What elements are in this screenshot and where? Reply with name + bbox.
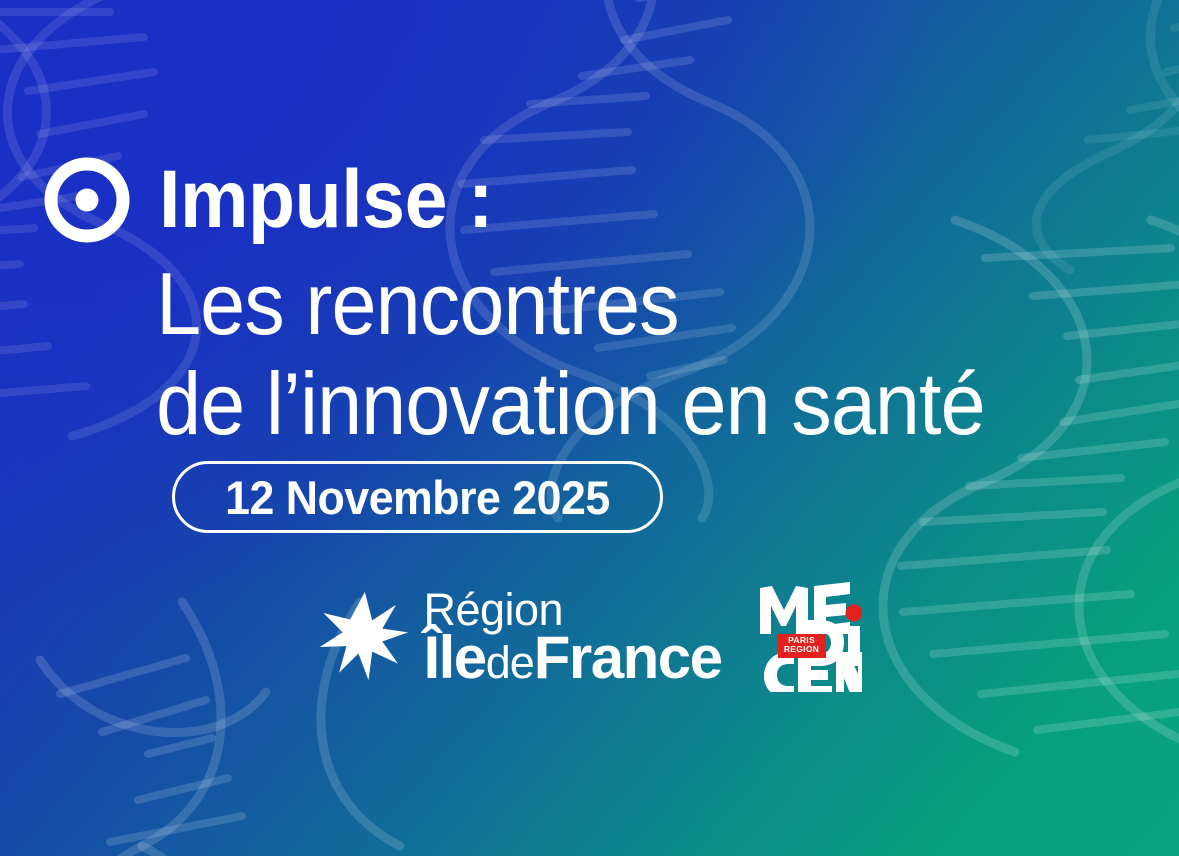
medicen-badge-text: PARIS REGION xyxy=(780,636,824,653)
event-poster: Impulse : Les rencontres de l’innovation… xyxy=(0,0,1179,856)
date-badge-label: 12 Novembre 2025 xyxy=(225,474,610,521)
target-dot-icon xyxy=(42,155,132,245)
logo-region-ile-de-france: Région Île de France xyxy=(317,586,721,686)
partner-logos: Région Île de France xyxy=(0,580,1179,692)
headline-third-line: de l’innovation en santé xyxy=(42,360,1054,448)
medicen-badge-line2: REGION xyxy=(780,645,824,654)
headline-first-line: Impulse : xyxy=(42,152,1142,248)
headline-block: Impulse : Les rencontres de l’innovation… xyxy=(42,152,1142,448)
logo-word-ile: Île xyxy=(423,629,485,686)
logo-word-france: France xyxy=(534,629,722,686)
page-title: Impulse : xyxy=(159,161,493,240)
logo-region-wordmark: Région Île de France xyxy=(423,586,721,686)
eight-point-star-icon xyxy=(317,590,409,682)
headline-second-line: Les rencontres xyxy=(42,260,1054,348)
logo-medicen: PARIS REGION xyxy=(758,580,862,692)
logo-word-de: de xyxy=(486,642,534,685)
logo-iledefrance-line: Île de France xyxy=(423,629,721,686)
medicen-red-dot-icon xyxy=(845,605,862,622)
date-badge: 12 Novembre 2025 xyxy=(172,461,663,533)
